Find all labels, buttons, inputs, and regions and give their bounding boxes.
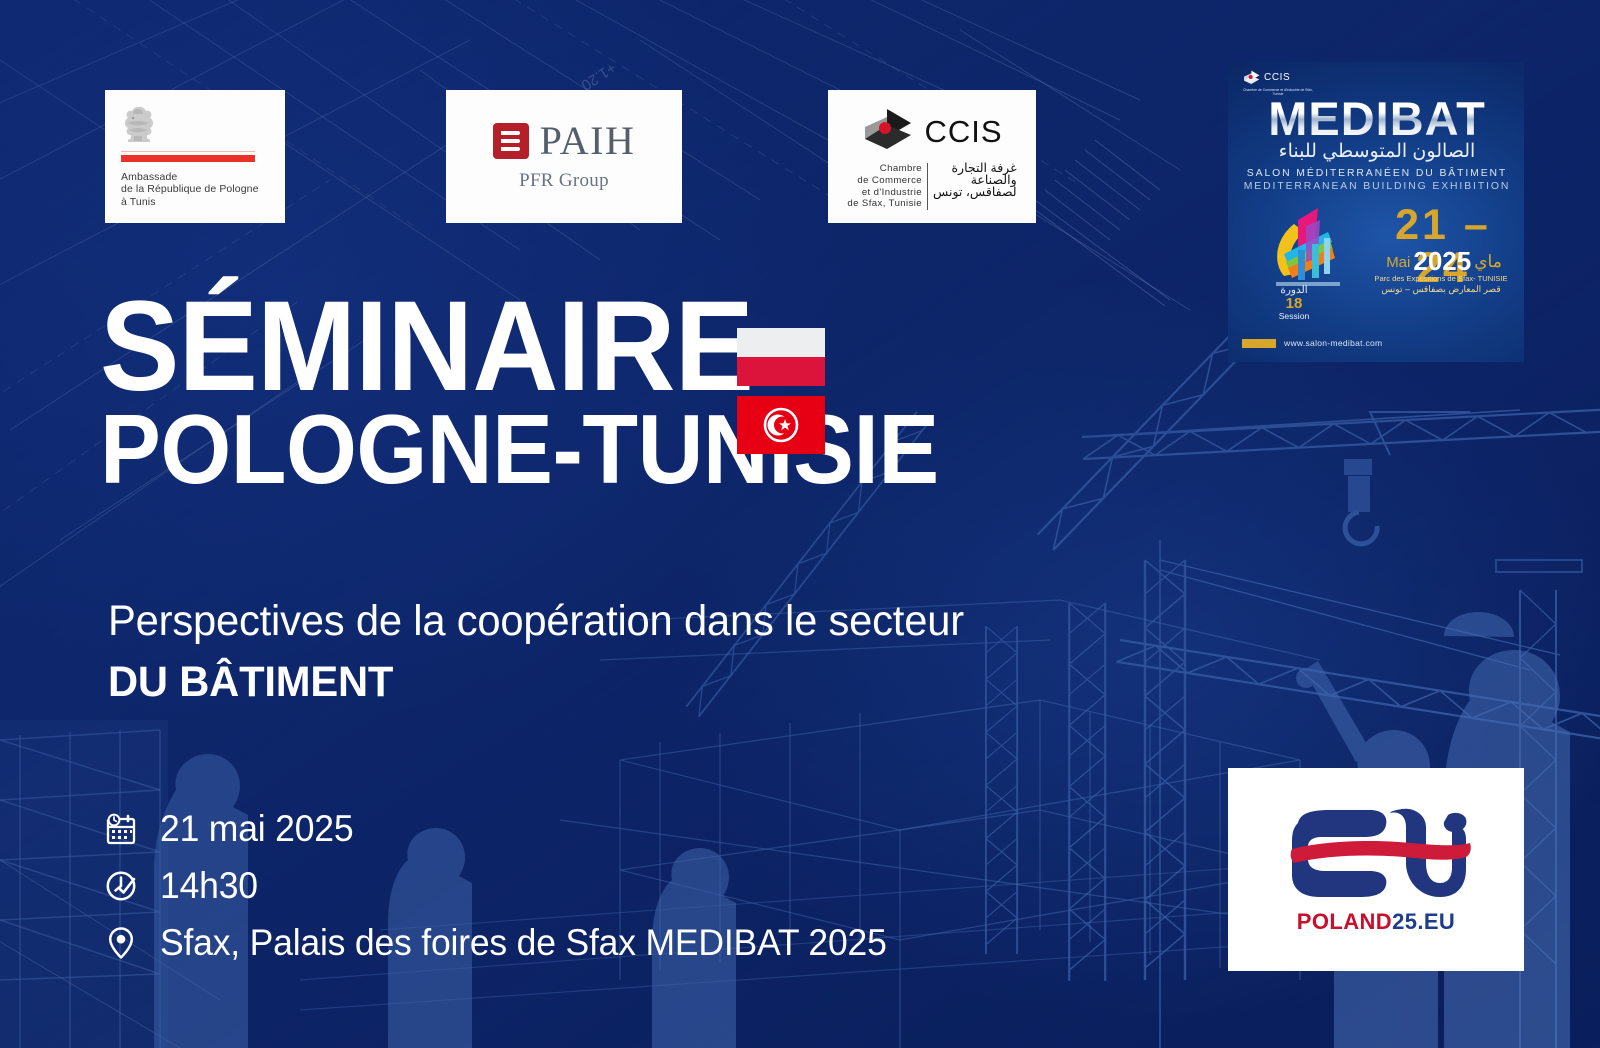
medibat-french-tagline: SALON MÉDITERRANÉEN DU BÂTIMENT: [1239, 167, 1515, 180]
eu-brushstroke-icon: [1278, 805, 1474, 901]
medibat-month-fr: Mai: [1386, 254, 1410, 271]
medibat-venue: Parc des Expositions de Sfax- TUNISIE قص…: [1362, 274, 1520, 294]
ccis-arrow-icon-small: [1242, 70, 1262, 86]
flags-group: [737, 328, 825, 454]
poland25eu-text-red: POLAND: [1297, 909, 1392, 934]
medibat-english-tagline: MEDITERRANEAN BUILDING EXHIBITION: [1239, 180, 1515, 193]
ccis-ar-line-3: لصفاقس، تونس: [933, 187, 1017, 199]
headline-block: SÉMINAIRE POLOGNE-TUNISIE: [100, 294, 1002, 494]
poland25eu-text-blue: 25.EU: [1392, 909, 1455, 934]
event-time-text: 14h30: [160, 865, 258, 907]
event-location-text: Sfax, Palais des foires de Sfax MEDIBAT …: [160, 922, 887, 964]
medibat-footer: www.salon-medibat.com: [1242, 338, 1382, 348]
medibat-poster: CCIS Chambre de Commerce et d'Industrie …: [1228, 62, 1524, 362]
medibat-arabic-tagline: الصالون المتوسطي للبناء: [1239, 140, 1515, 163]
tunisia-flag: [737, 396, 825, 454]
medibat-session-en: Session: [1240, 311, 1348, 321]
ccis-logo-card: CCIS Chambre de Commerce et d'Industrie …: [828, 90, 1036, 223]
medibat-month-ar: ماي: [1474, 252, 1502, 271]
medibat-session: الدورة 18 Session: [1240, 284, 1348, 321]
embassy-of-poland-logo-card: Ambassade de la République de Pologne à …: [105, 90, 285, 223]
embassy-line-1: Ambassade: [121, 171, 269, 183]
ccis-fr-line-4: de Sfax, Tunisie: [847, 198, 922, 210]
medibat-year: 2025: [1410, 246, 1474, 276]
medibat-ccis-wordmark: CCIS: [1264, 73, 1290, 83]
paih-subline: PFR Group: [519, 170, 609, 192]
paih-mark-icon: [493, 123, 529, 159]
event-detail-date: 21 mai 2025: [104, 800, 917, 857]
headline-subtitle: Perspectives de la coopération dans le s…: [108, 597, 964, 646]
medibat-footer-bar: [1242, 339, 1276, 348]
poland-flag: [737, 328, 825, 386]
clock-check-icon: [104, 869, 138, 903]
event-detail-location: Sfax, Palais des foires de Sfax MEDIBAT …: [104, 914, 917, 971]
ccis-wordmark: CCIS: [924, 116, 1002, 147]
poland25eu-wordmark: POLAND25.EU: [1297, 909, 1455, 935]
ccis-fr-line-3: et d'Industrie: [847, 187, 922, 199]
medibat-venue-fr: Parc des Expositions de Sfax- TUNISIE: [1374, 274, 1507, 283]
paih-logo-card: PAIH PFR Group: [446, 90, 682, 223]
event-date-text: 21 mai 2025: [160, 808, 353, 850]
embassy-line-2: de la République de Pologne: [121, 183, 269, 195]
medibat-venue-ar: قصر المعارض بصفاقس – تونس: [1362, 284, 1520, 294]
event-detail-time: 14h30: [104, 857, 917, 914]
ccis-fr-line-1: Chambre: [847, 163, 922, 175]
svg-text:+1.20: +1.20: [578, 59, 619, 94]
headline-subtitle-bold: DU BÂTIMENT: [108, 658, 393, 707]
calendar-clock-icon: [104, 812, 138, 846]
medibat-colour-burst-graphic: [1254, 198, 1350, 294]
paih-wordmark: PAIH: [540, 121, 636, 161]
medibat-title: MEDIBAT: [1239, 95, 1515, 142]
event-details-list: 21 mai 2025 14h30 Sfax, Palais des foire…: [104, 800, 917, 971]
embassy-red-rule: [121, 155, 255, 162]
embassy-thin-rule: [121, 151, 255, 152]
medibat-month-year: Mai2025ماي: [1368, 248, 1520, 274]
location-pin-icon: [104, 926, 138, 960]
ccis-fr-line-2: de Commerce: [847, 175, 922, 187]
embassy-line-3: à Tunis: [121, 196, 269, 208]
poster-canvas: +1.20: [0, 0, 1600, 1048]
medibat-website: www.salon-medibat.com: [1284, 338, 1382, 348]
medibat-session-number: 18: [1240, 296, 1348, 311]
poland25eu-logo-card: POLAND25.EU: [1228, 768, 1524, 971]
polish-eagle-icon: [121, 105, 155, 145]
ccis-arrow-icon: [861, 107, 917, 155]
